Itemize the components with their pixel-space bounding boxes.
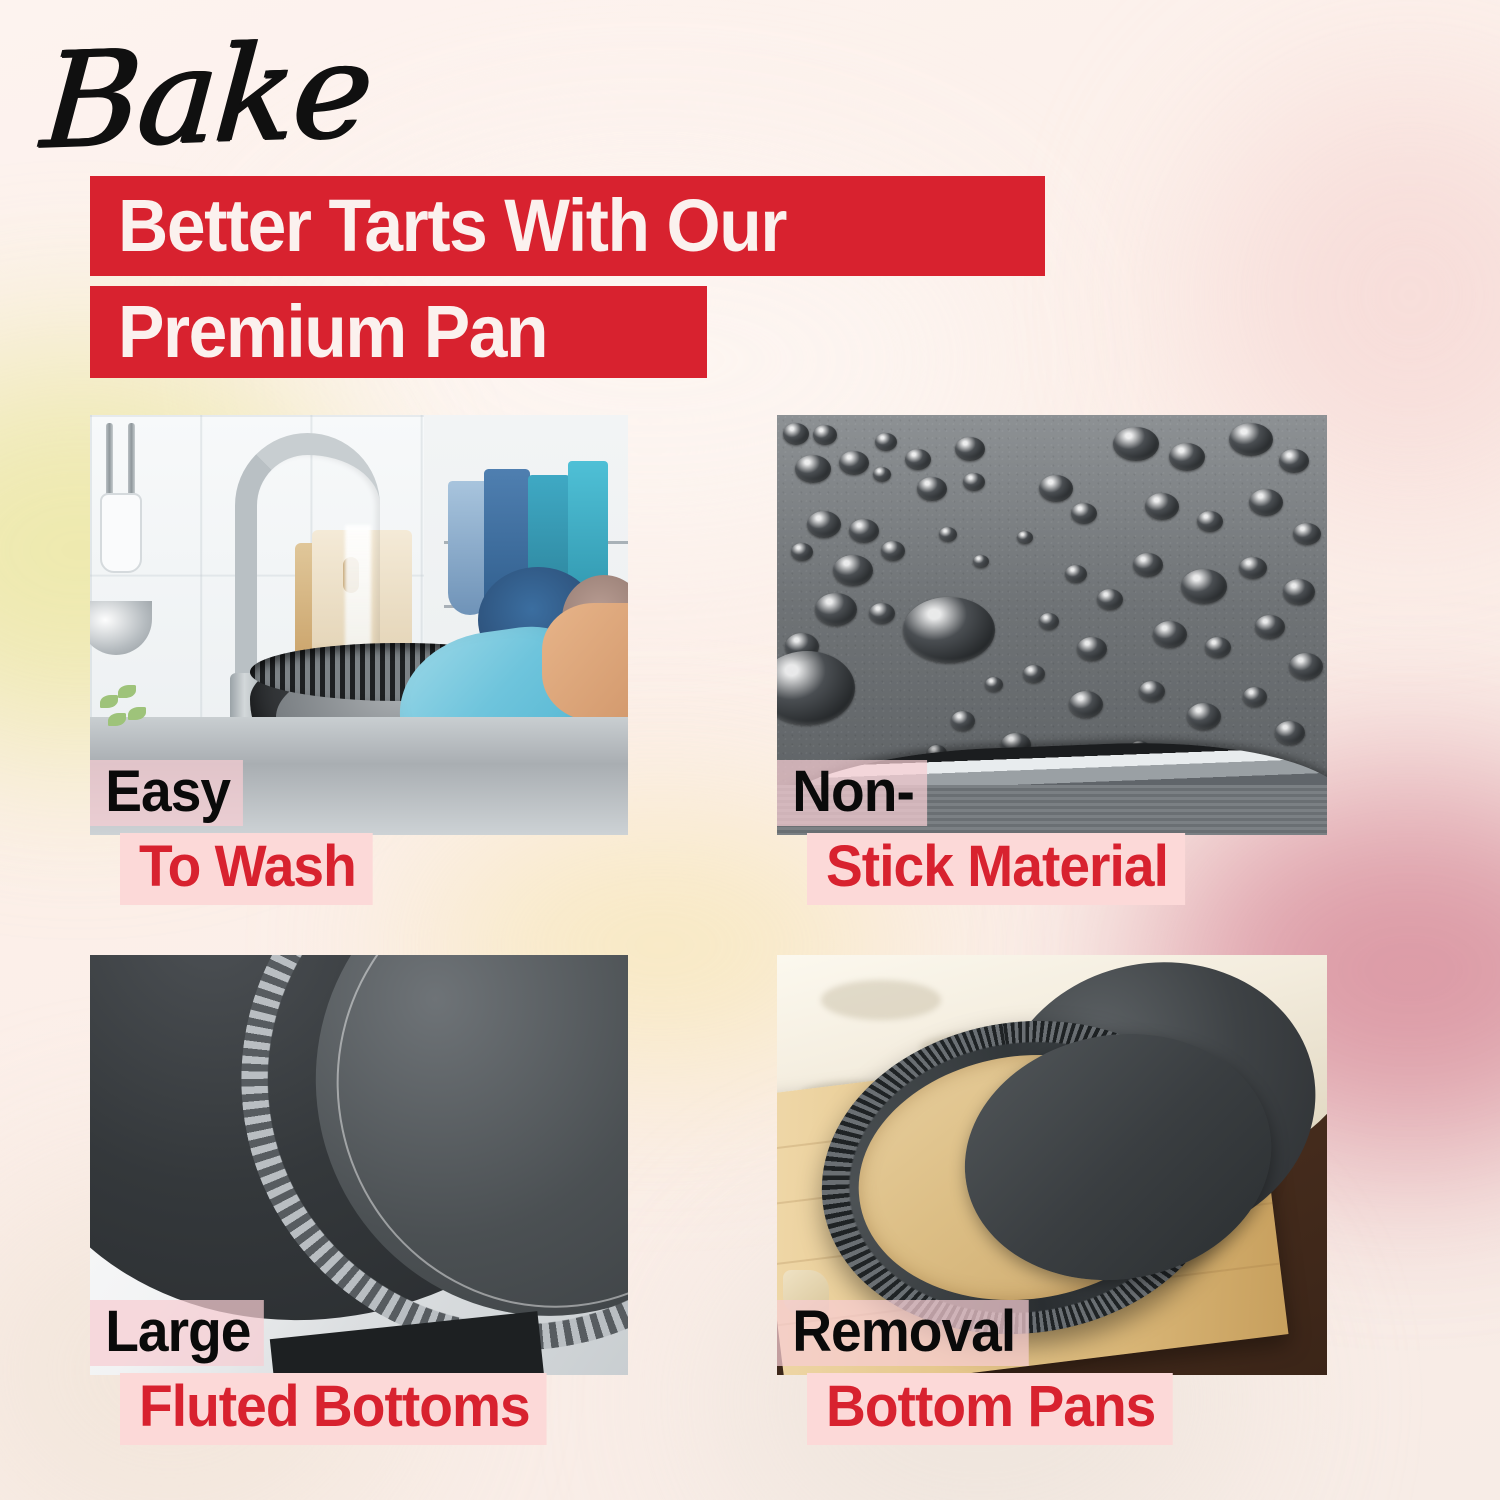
feature-label-top-large: Large	[90, 1300, 264, 1366]
feature-label-bottom-bottom-pans: Bottom Pans	[807, 1373, 1172, 1445]
feature-panel-fluted-bottoms: Large Fluted Bottoms	[90, 955, 628, 1375]
feature-label-bottom-fluted-bottoms: Fluted Bottoms	[120, 1373, 547, 1445]
headline-line1-text: Better Tarts With Our	[118, 189, 786, 263]
script-word-bake: Bake	[39, 24, 375, 167]
headline-band-line2: Premium Pan	[90, 286, 707, 378]
feature-panel-easy-to-wash: Easy To Wash	[90, 415, 628, 835]
headline-line2-text: Premium Pan	[118, 295, 547, 369]
feature-panel-removable-bottom: Removal Bottom Pans	[777, 955, 1327, 1375]
feature-label-top-removal: Removal	[777, 1300, 1029, 1366]
feature-label-top-non: Non-	[777, 760, 927, 826]
feature-panel-non-stick: Non- Stick Material	[777, 415, 1327, 835]
headline-band-line1: Better Tarts With Our	[90, 176, 1045, 276]
feature-label-bottom-stick-material: Stick Material	[807, 833, 1185, 905]
feature-label-top-easy: Easy	[90, 760, 243, 826]
feature-label-bottom-to-wash: To Wash	[120, 833, 373, 905]
